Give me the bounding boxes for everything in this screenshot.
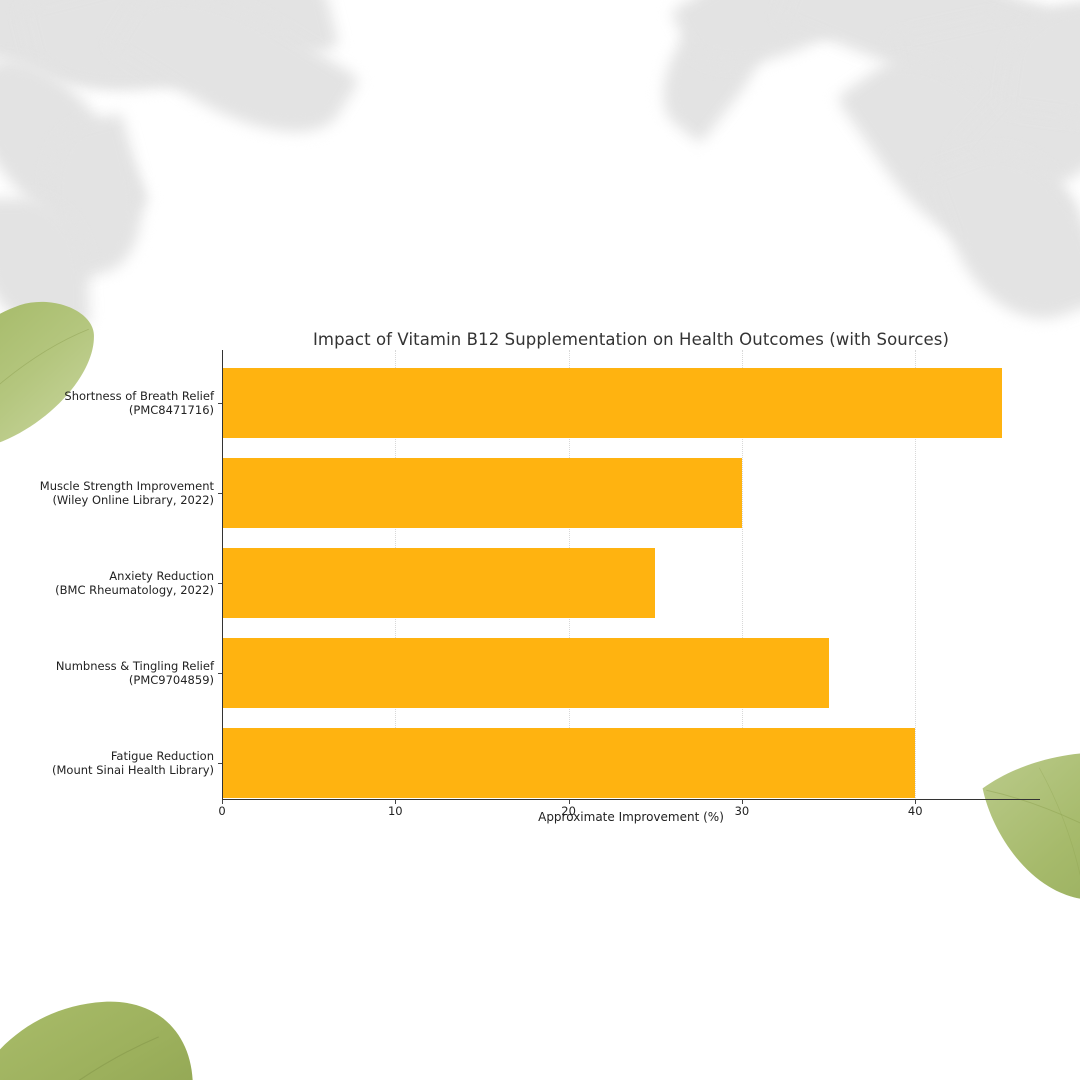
y-axis-label-source: (PMC8471716) xyxy=(0,403,214,417)
y-axis-line xyxy=(222,350,223,800)
y-axis-label-source: (PMC9704859) xyxy=(0,673,214,687)
x-axis-line xyxy=(222,799,1040,800)
y-axis-label: Numbness & Tingling Relief(PMC9704859) xyxy=(0,659,214,687)
y-axis-label: Fatigue Reduction(Mount Sinai Health Lib… xyxy=(0,749,214,777)
y-axis-label-outcome: Numbness & Tingling Relief xyxy=(0,659,214,673)
bar xyxy=(222,728,915,798)
y-axis-label: Shortness of Breath Relief(PMC8471716) xyxy=(0,389,214,417)
chart-image: Impact of Vitamin B12 Supplementation on… xyxy=(0,0,1080,1080)
y-axis-label: Anxiety Reduction(BMC Rheumatology, 2022… xyxy=(0,569,214,597)
bar xyxy=(222,458,742,528)
y-axis-label-outcome: Muscle Strength Improvement xyxy=(0,479,214,493)
y-axis-label-outcome: Fatigue Reduction xyxy=(0,749,214,763)
bar xyxy=(222,368,1002,438)
y-axis-label-source: (Wiley Online Library, 2022) xyxy=(0,493,214,507)
plot-area xyxy=(222,350,1040,800)
x-axis-title: Approximate Improvement (%) xyxy=(222,810,1040,824)
y-axis-label-outcome: Shortness of Breath Relief xyxy=(0,389,214,403)
bar xyxy=(222,638,829,708)
y-axis-label-outcome: Anxiety Reduction xyxy=(0,569,214,583)
y-axis-label: Muscle Strength Improvement(Wiley Online… xyxy=(0,479,214,507)
y-axis-label-source: (BMC Rheumatology, 2022) xyxy=(0,583,214,597)
bar xyxy=(222,548,655,618)
chart-title: Impact of Vitamin B12 Supplementation on… xyxy=(222,330,1040,349)
y-axis-label-source: (Mount Sinai Health Library) xyxy=(0,763,214,777)
bar-chart: Impact of Vitamin B12 Supplementation on… xyxy=(0,0,1080,1080)
